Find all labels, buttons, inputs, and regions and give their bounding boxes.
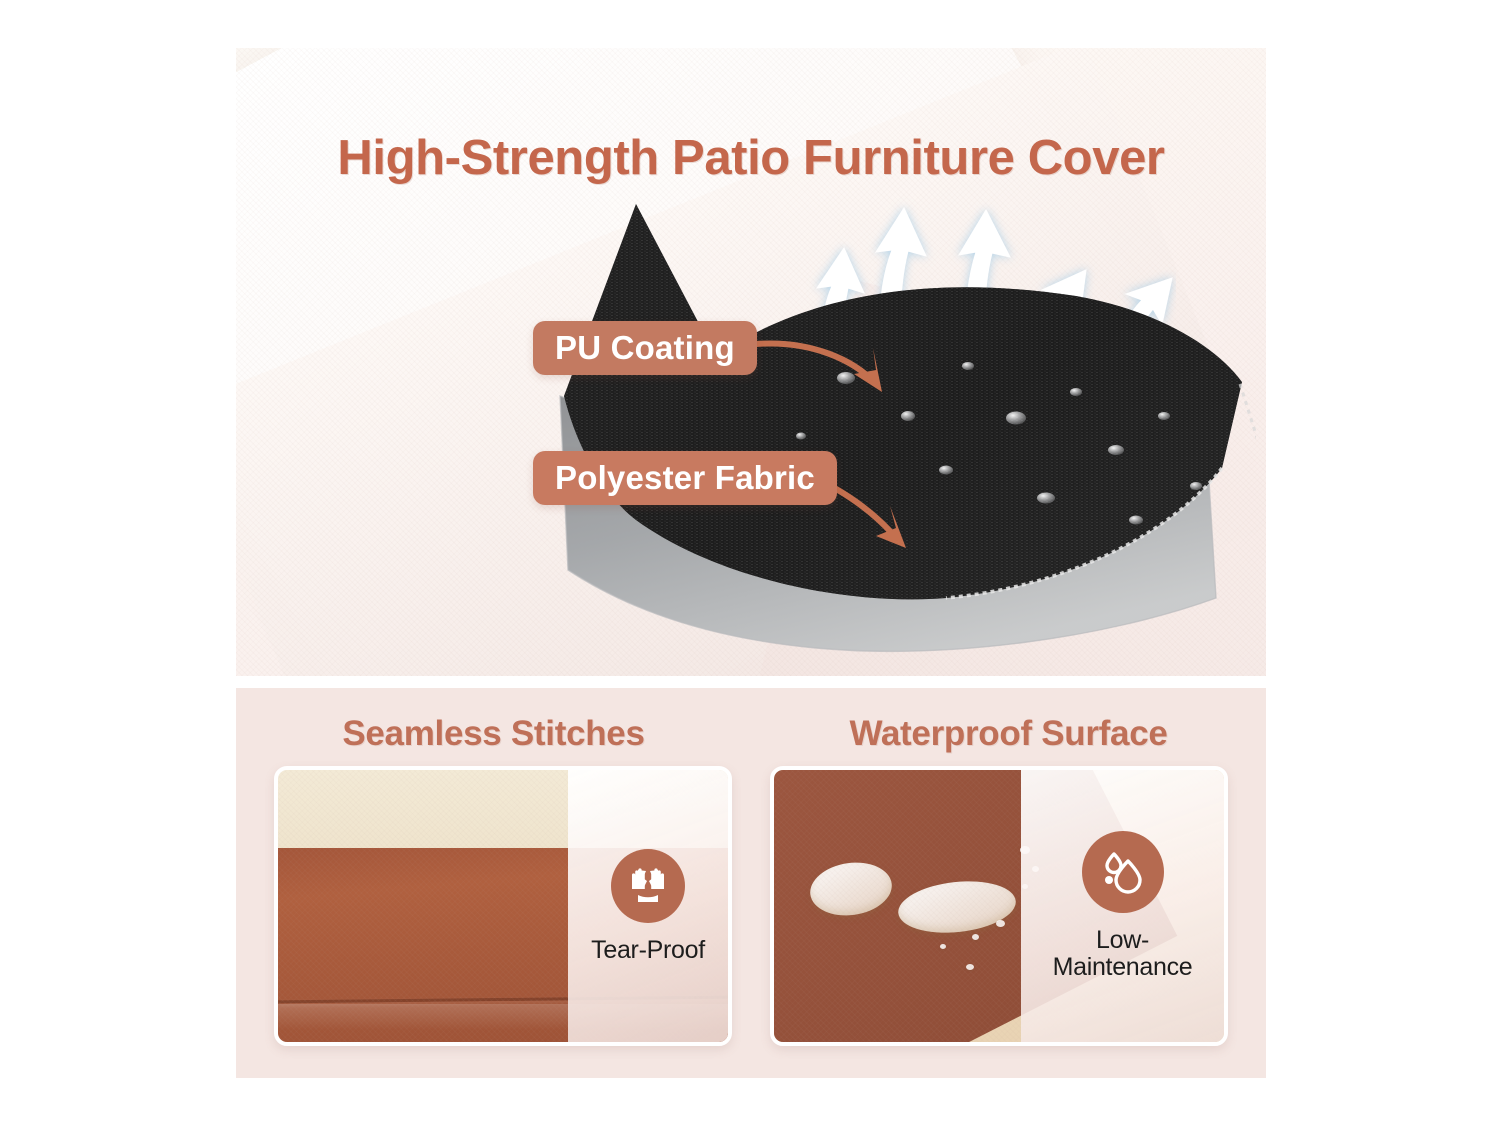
product-infographic: High-Strength Patio Furniture Cover [0, 0, 1500, 1125]
fabric-cutaway-illustration: PU Coating Polyester Fabric [236, 48, 1266, 676]
hero-panel: High-Strength Patio Furniture Cover [236, 48, 1266, 676]
feature-heading-waterproof-surface: Waterproof Surface [751, 714, 1266, 754]
features-panel: Seamless Stitches Waterproof Surface [236, 688, 1266, 1078]
annotation-badge-pu-coating[interactable]: PU Coating [533, 321, 757, 375]
icon-overlay-panel: Low- Maintenance [1021, 770, 1224, 1042]
tear-proof-hands-icon [611, 849, 685, 923]
icon-label-tear-proof: Tear-Proof [591, 937, 705, 964]
feature-headings: Seamless Stitches Waterproof Surface [236, 714, 1266, 754]
water-droplet-icon [1082, 831, 1164, 913]
annotation-badge-polyester-fabric[interactable]: Polyester Fabric [533, 451, 837, 505]
feature-card-waterproof-surface[interactable]: Low- Maintenance [770, 766, 1228, 1046]
water-droplet [966, 964, 974, 970]
feature-cards: Tear-Proof [236, 766, 1266, 1046]
icon-label-low-maintenance: Low- Maintenance [1015, 927, 1228, 981]
water-droplet [940, 944, 946, 949]
feature-card-seamless-stitches[interactable]: Tear-Proof [274, 766, 732, 1046]
icon-overlay-panel: Tear-Proof [568, 770, 728, 1042]
icon-label-line1: Low- [1096, 926, 1149, 954]
water-droplet [972, 934, 979, 940]
icon-label-line2: Maintenance [1053, 953, 1193, 981]
water-droplet [996, 920, 1005, 927]
feature-heading-seamless-stitches: Seamless Stitches [236, 714, 751, 754]
fabric-layers-graphic [516, 168, 1256, 668]
